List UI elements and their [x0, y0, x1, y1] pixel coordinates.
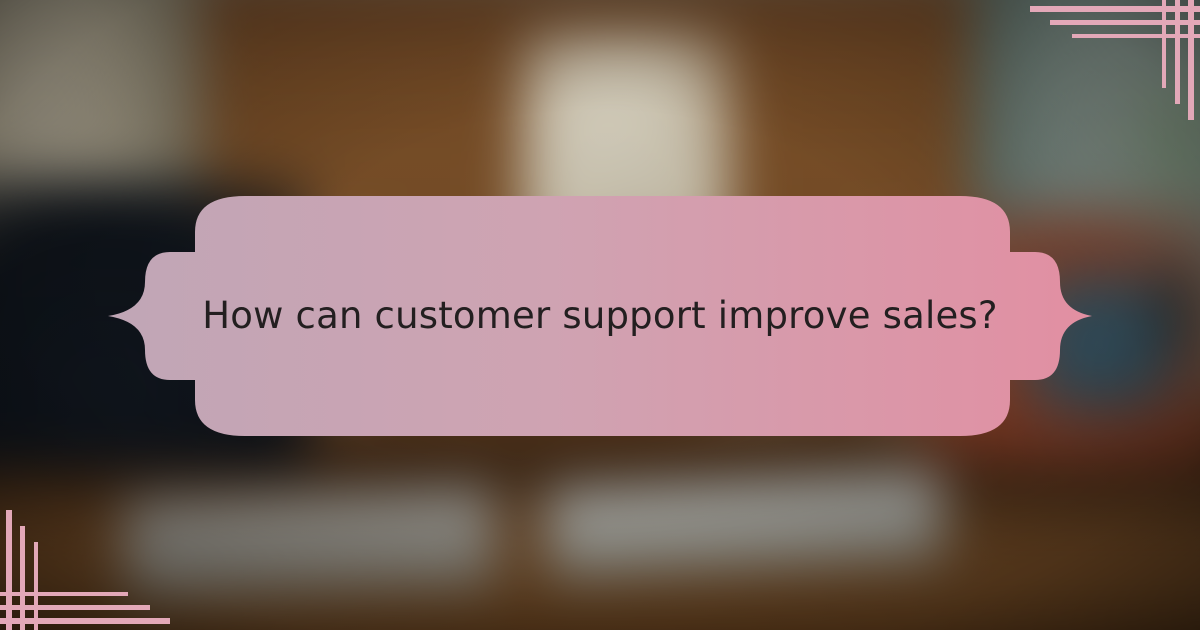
- poster-canvas: How can customer support improve sales?: [0, 0, 1200, 630]
- background-photo: [0, 0, 1200, 630]
- background-paper: [123, 489, 496, 599]
- background-flower-vase: [521, 30, 732, 315]
- background-monitor: [1022, 270, 1180, 420]
